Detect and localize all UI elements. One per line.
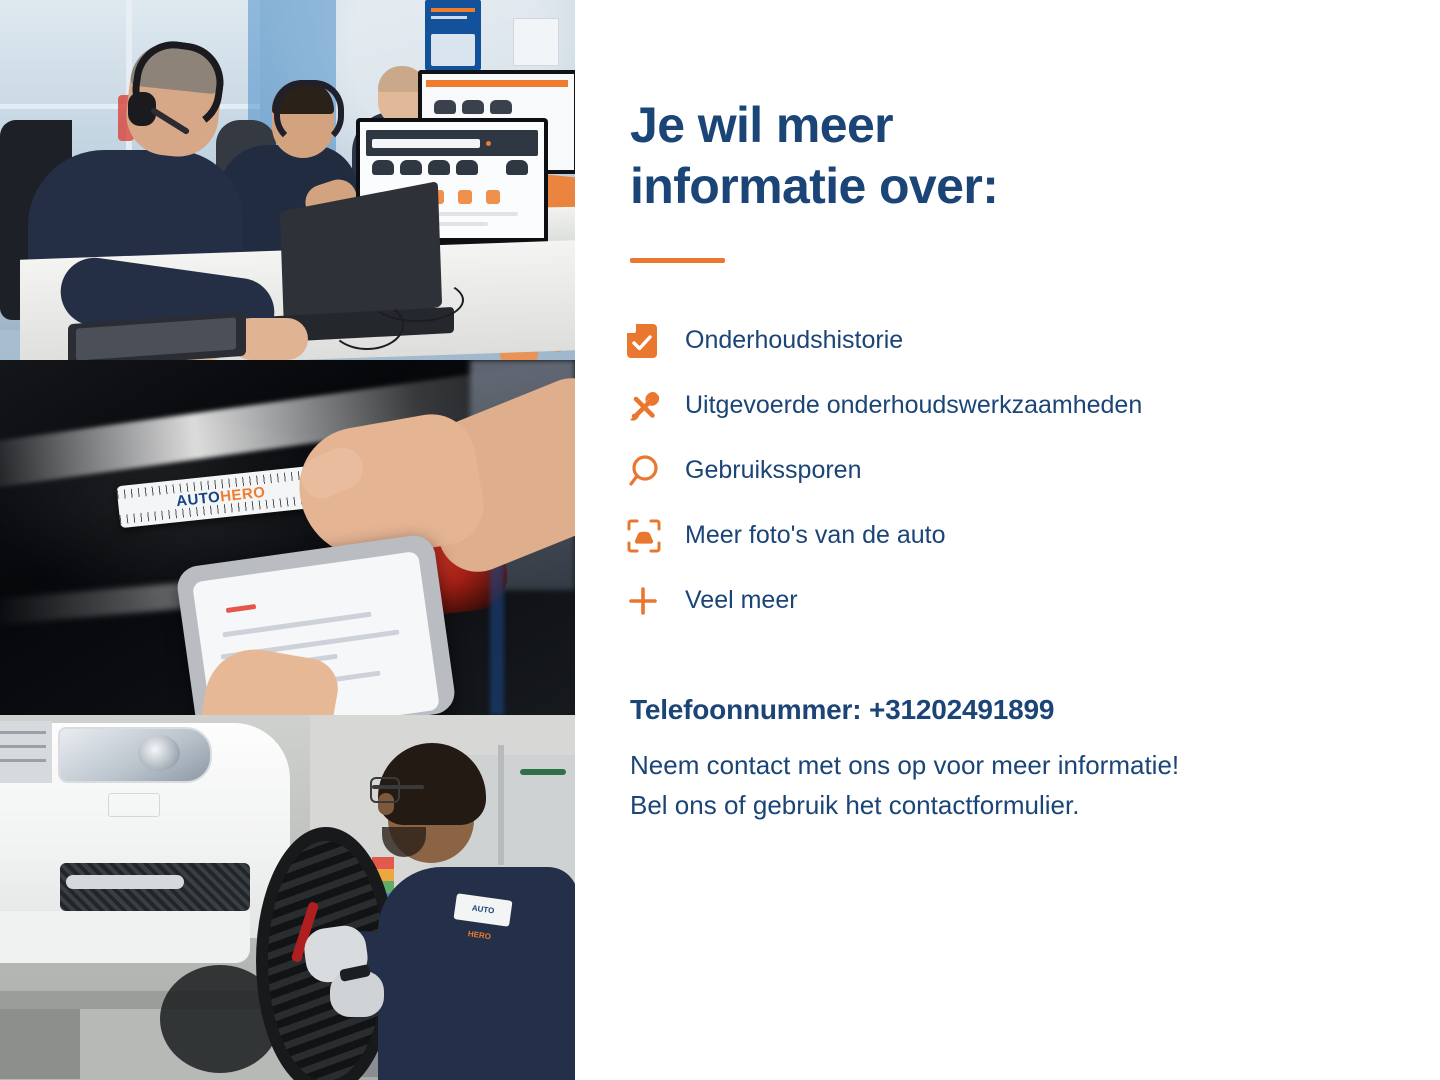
grille-slat bbox=[0, 759, 46, 762]
background-blue-strip bbox=[490, 560, 504, 715]
mechanic-glasses-lens bbox=[370, 777, 400, 803]
screen-search-bar bbox=[372, 139, 480, 148]
headlight-lens bbox=[138, 735, 180, 771]
grille-slat bbox=[0, 745, 46, 748]
list-item: Veel meer bbox=[627, 568, 1387, 633]
plus-icon bbox=[627, 585, 685, 617]
magnifier-icon bbox=[627, 454, 685, 488]
screen-car-thumb bbox=[462, 100, 484, 114]
car-lift-post bbox=[0, 1009, 80, 1079]
fog-light-trim bbox=[66, 875, 184, 889]
screen-car-thumb bbox=[372, 160, 394, 175]
grille-slat bbox=[0, 731, 46, 734]
headline-line-1: Je wil meer bbox=[630, 95, 1150, 156]
list-item-label: Meer foto's van de auto bbox=[685, 522, 946, 550]
car-headlight bbox=[58, 727, 212, 783]
list-item-label: Onderhoudshistorie bbox=[685, 327, 903, 355]
screen-feature-icon bbox=[458, 190, 472, 204]
headline-line-2: informatie over: bbox=[630, 156, 1150, 217]
page-title: Je wil meer informatie over: bbox=[630, 95, 1150, 217]
list-item: Uitgevoerde onderhoudswerkzaamheden bbox=[627, 373, 1387, 438]
screen-car-thumb bbox=[456, 160, 478, 175]
mechanic-tire-inspection-photo: AUTOHERO bbox=[0, 715, 575, 1080]
green-hose bbox=[520, 769, 566, 775]
screen-car-thumb bbox=[428, 160, 450, 175]
content-panel: Je wil meer informatie over: Onderhoudsh… bbox=[575, 0, 1440, 1080]
list-item: Gebruikssporen bbox=[627, 438, 1387, 503]
list-item: Onderhoudshistorie bbox=[627, 308, 1387, 373]
cable bbox=[370, 278, 464, 322]
poster-subline-bar bbox=[431, 16, 467, 19]
car-inspection-ruler-photo: AUTOHERO bbox=[0, 360, 575, 715]
contact-line-1: Neem contact met ons op voor meer inform… bbox=[630, 745, 1370, 785]
photo-column: AUTOHERO bbox=[0, 0, 575, 1080]
agent-2-headset bbox=[274, 80, 344, 146]
list-item-label: Uitgevoerde onderhoudswerkzaamheden bbox=[685, 392, 1142, 420]
phone-number[interactable]: Telefoonnummer: +31202491899 bbox=[630, 694, 1054, 726]
screen-car-thumb bbox=[400, 160, 422, 175]
screen-car-thumb bbox=[490, 100, 512, 114]
document-check-icon bbox=[627, 324, 685, 358]
promo-banner: AUTOHERO bbox=[0, 0, 1440, 1080]
list-item-label: Veel meer bbox=[685, 587, 798, 615]
license-plate-recess bbox=[108, 793, 160, 817]
contact-text: Neem contact met ons op voor meer inform… bbox=[630, 745, 1370, 826]
workshop-pole bbox=[498, 745, 504, 865]
screen-car-thumb bbox=[434, 100, 456, 114]
list-item-label: Gebruikssporen bbox=[685, 457, 861, 485]
screen-accent-dot bbox=[486, 141, 491, 146]
list-item: Meer foto's van de auto bbox=[627, 503, 1387, 568]
screen-car-thumb bbox=[506, 160, 528, 175]
tools-wrench-screwdriver-icon bbox=[627, 389, 685, 423]
title-divider bbox=[630, 258, 725, 263]
poster-headline-bar bbox=[431, 8, 475, 12]
contact-line-2: Bel ons of gebruik het contactformulier. bbox=[630, 785, 1370, 825]
call-center-agents-photo bbox=[0, 0, 575, 360]
screen-header-bar bbox=[426, 80, 568, 87]
screen-feature-icon bbox=[486, 190, 500, 204]
car-focus-frame-icon bbox=[627, 519, 685, 553]
front-bumper bbox=[0, 911, 250, 963]
whiteboard bbox=[513, 18, 559, 66]
feature-list: Onderhoudshistorie Uitgevoerde onderhoud… bbox=[627, 308, 1387, 633]
